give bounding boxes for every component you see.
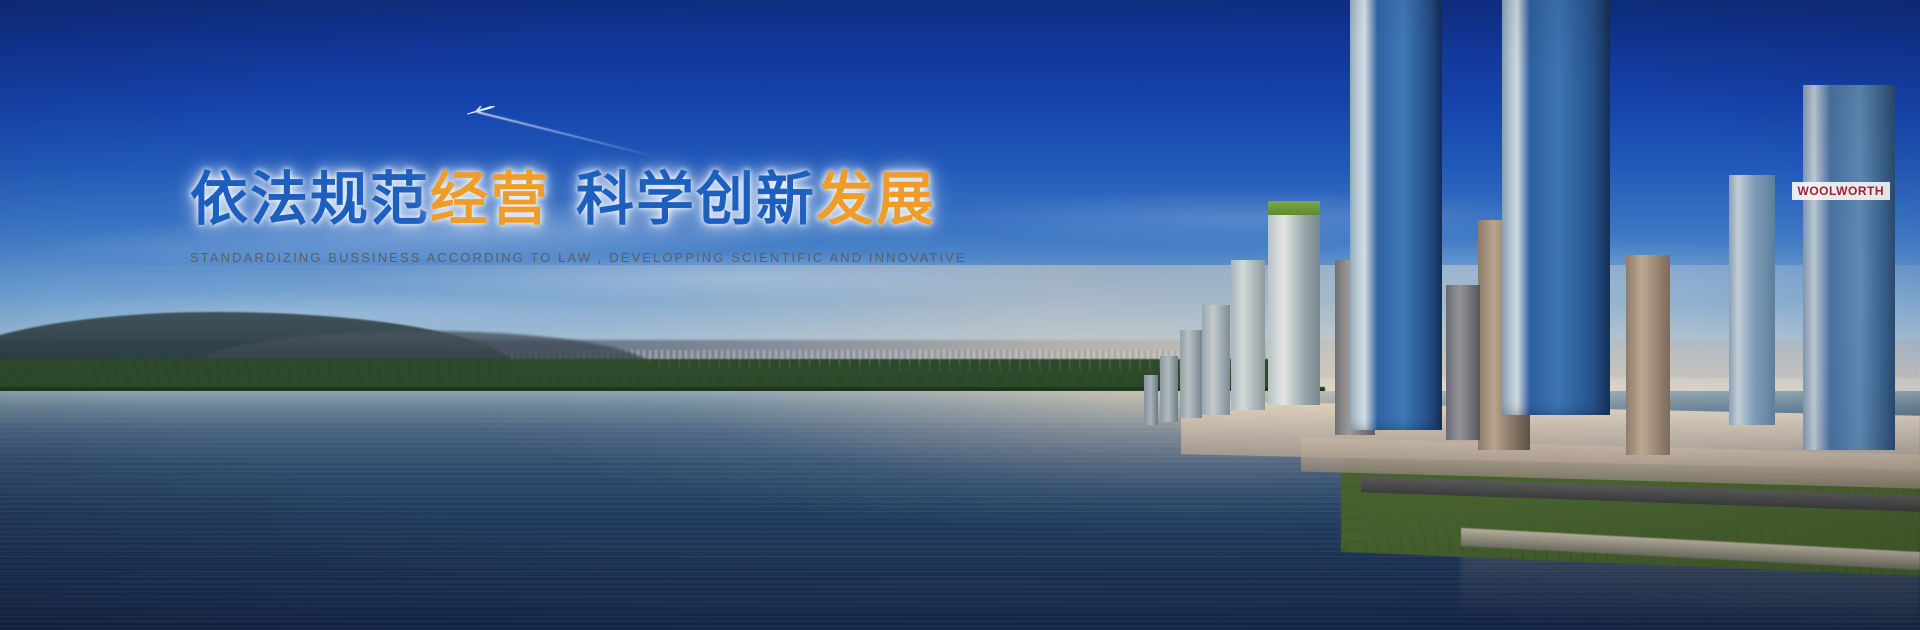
contrail [477, 111, 652, 156]
skyline-building [1180, 330, 1202, 418]
airplane-with-contrail [455, 95, 675, 155]
headline: 依法规范经营科学创新发展 [190, 168, 950, 232]
skyline-building [1268, 210, 1320, 405]
glass-tower-secondary [1350, 0, 1442, 430]
skyline-building [1231, 260, 1265, 410]
banner-copy: 依法规范经营科学创新发展 STANDARDIZING BUSSINESS ACC… [190, 168, 950, 265]
headline-part-2: 科学创新 [576, 167, 816, 232]
corner-office-tower [1803, 85, 1895, 450]
headline-highlight-2: 发展 [816, 167, 936, 232]
glass-tower-primary [1502, 0, 1610, 415]
headline-highlight-1: 经营 [430, 167, 550, 232]
skyline-building [1729, 175, 1775, 425]
skyline-building [1160, 356, 1178, 422]
skyline-building [1202, 305, 1230, 415]
hero-banner: WOOLWORTH 依法规范经营科学创新发展 STANDARDIZING BUS… [0, 0, 1920, 630]
skyline-building [1446, 285, 1480, 440]
skyline-building [1626, 255, 1670, 455]
headline-part-1: 依法规范 [190, 167, 430, 232]
subtitle: STANDARDIZING BUSSINESS ACCORDING TO LAW… [190, 250, 950, 265]
skyline-building [1144, 375, 1158, 425]
woolworth-sign: WOOLWORTH [1792, 182, 1890, 200]
right-bank-skyline: WOOLWORTH [922, 0, 1920, 630]
rooftop-sign-green [1268, 201, 1320, 215]
